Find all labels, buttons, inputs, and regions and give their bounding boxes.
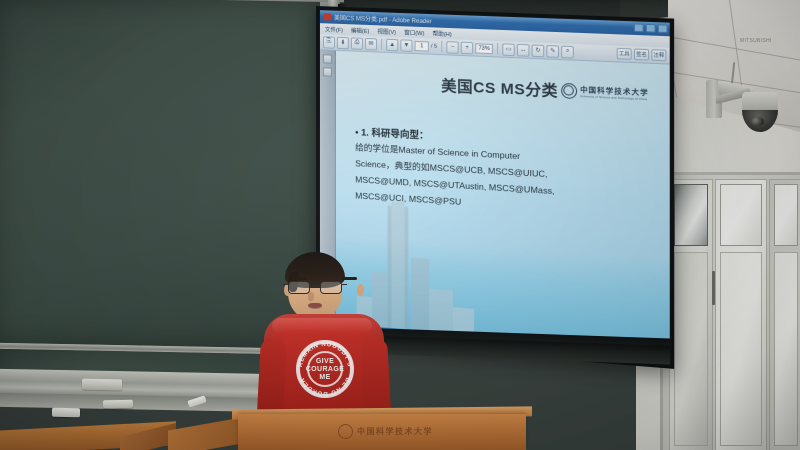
- door-leaf-far[interactable]: [769, 179, 800, 450]
- dome-security-camera: [706, 62, 780, 142]
- print-icon[interactable]: ⎙: [351, 37, 363, 50]
- menu-item-view[interactable]: 视图(V): [377, 27, 396, 36]
- menu-item-edit[interactable]: 编辑(E): [351, 26, 369, 35]
- door-lower-panel: [720, 252, 762, 446]
- podium-ustc-logo: 中国科学技术大学: [338, 424, 433, 439]
- toolbar-separator: [497, 43, 498, 54]
- board-eraser[interactable]: [52, 408, 80, 418]
- zoom-out-icon[interactable]: −: [446, 41, 458, 54]
- tools-pane-button[interactable]: 工具: [617, 48, 632, 60]
- door-lower-panel: [674, 252, 708, 446]
- menu-item-window[interactable]: 窗口(W): [404, 28, 424, 37]
- sweatshirt-circular-graphic: REMAIN NOBODY'S BE NO BORDER GIVE COURAG…: [296, 340, 354, 398]
- classroom-door-frame: [660, 172, 800, 450]
- door-glass-panel: [720, 184, 762, 246]
- glasses-bridge: [310, 286, 320, 287]
- zoom-level-input[interactable]: 73%: [475, 43, 493, 54]
- window-controls[interactable]: [634, 23, 668, 33]
- board-eraser[interactable]: [82, 379, 122, 391]
- eyebrow-left: [291, 277, 307, 280]
- fit-page-icon[interactable]: ▭: [502, 43, 515, 56]
- page-number-input[interactable]: 1: [415, 40, 429, 51]
- save-icon[interactable]: ⬇: [337, 36, 349, 49]
- sweatshirt-line-1: GIVE: [316, 358, 334, 365]
- mouth: [308, 303, 322, 309]
- page-thumbnails-icon[interactable]: [323, 54, 332, 63]
- lectern-podium: 中国科学技术大学: [238, 414, 526, 450]
- toolbar-separator: [441, 41, 442, 52]
- lecture-hall-photo: MITSUBISHI: [0, 0, 800, 450]
- page-down-icon[interactable]: ▼: [400, 39, 412, 52]
- highlight-icon[interactable]: ✎: [546, 45, 559, 58]
- door-leaf-left[interactable]: [669, 179, 713, 450]
- camera-dome-lens: [742, 110, 778, 132]
- eyebrow-right: [341, 277, 357, 280]
- podium-logo-text: 中国科学技术大学: [357, 426, 433, 437]
- email-icon[interactable]: ✉: [365, 37, 377, 50]
- toolbar-separator: [381, 39, 382, 50]
- zoom-in-icon[interactable]: +: [461, 41, 473, 54]
- door-glass-panel: [674, 184, 708, 246]
- close-button[interactable]: [658, 24, 668, 33]
- ear-right: [357, 284, 364, 296]
- bookmarks-icon[interactable]: [323, 67, 332, 76]
- projector-brand-label: MITSUBISHI: [740, 36, 790, 46]
- sweatshirt-line-2: COURAGE: [306, 366, 345, 373]
- glasses-temple-right: [342, 284, 347, 285]
- sweatshirt-line-3: ME: [319, 374, 330, 381]
- fit-width-icon[interactable]: ↔: [517, 43, 530, 56]
- rotate-icon[interactable]: ↻: [532, 44, 545, 57]
- lens-right: [320, 281, 342, 294]
- door-glass-panel: [774, 184, 798, 246]
- sweatshirt-highlight: [272, 318, 372, 334]
- open-file-icon[interactable]: ⎘: [323, 36, 335, 48]
- eyeglasses: [287, 281, 343, 294]
- pdf-toolbar-right[interactable]: 工具 签名 注释: [617, 48, 667, 61]
- sign-pane-button[interactable]: 签名: [634, 48, 649, 60]
- glasses-temple-left: [283, 284, 288, 285]
- menu-item-help[interactable]: 帮助(H): [433, 29, 452, 38]
- comment-pane-button[interactable]: 注释: [651, 49, 666, 61]
- door-hinge: [712, 271, 715, 305]
- sweatshirt-center-text: GIVE COURAGE ME: [311, 355, 339, 383]
- page-up-icon[interactable]: ▲: [386, 38, 398, 51]
- page-total-label: / 5: [431, 43, 437, 49]
- menu-item-file[interactable]: 文件(F): [325, 25, 343, 34]
- minimize-button[interactable]: [634, 23, 644, 32]
- adobe-reader-icon: [324, 13, 331, 20]
- door-leaf-right[interactable]: [715, 179, 767, 450]
- podium-side-panel: [168, 417, 242, 450]
- maximize-button[interactable]: [646, 24, 656, 33]
- search-icon[interactable]: ⌕: [561, 45, 574, 58]
- lens-left: [288, 281, 310, 294]
- ustc-logo-emblem-icon: [561, 83, 577, 99]
- board-eraser[interactable]: [103, 400, 133, 409]
- podium-logo-emblem-icon: [338, 424, 353, 439]
- nose: [308, 292, 314, 301]
- door-lower-panel: [774, 252, 798, 446]
